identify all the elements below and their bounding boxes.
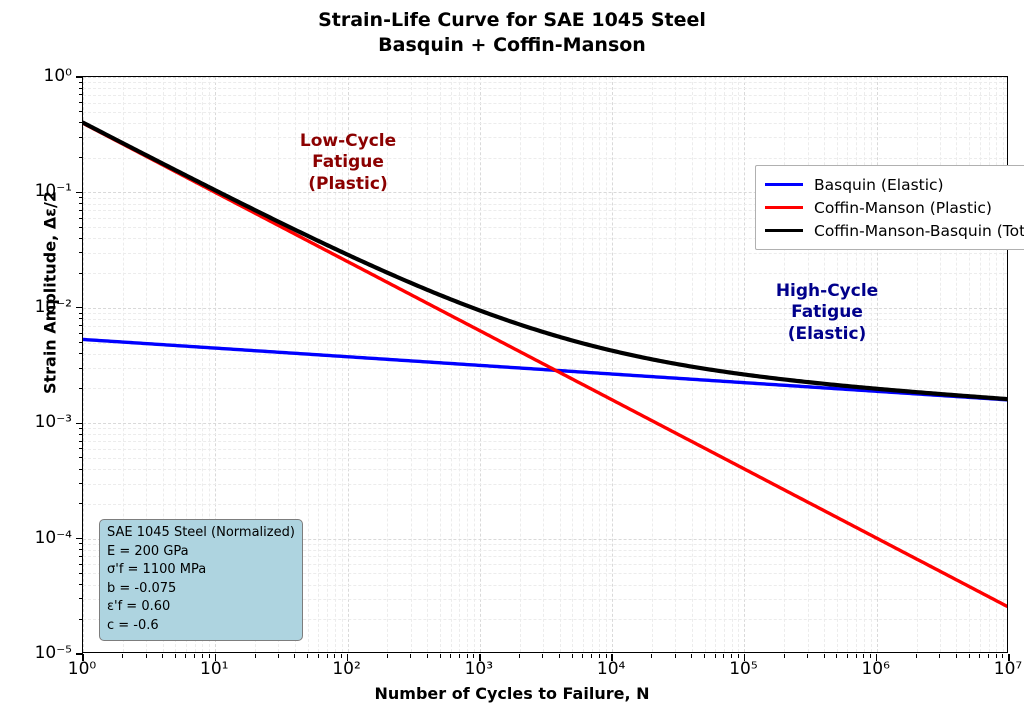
x-tick-label: 10⁵ bbox=[729, 659, 757, 679]
x-tick-minor bbox=[996, 654, 997, 658]
legend-label-total: Coffin-Manson-Basquin (Total) bbox=[814, 222, 1024, 240]
x-tick-minor bbox=[969, 654, 970, 658]
y-tick-minor bbox=[79, 252, 83, 253]
x-tick-label: 10⁷ bbox=[994, 659, 1022, 679]
x-tick-minor bbox=[519, 654, 520, 658]
legend-swatch-total bbox=[765, 229, 803, 232]
y-tick-label: 10⁰ bbox=[0, 66, 72, 86]
x-tick-minor bbox=[387, 654, 388, 658]
y-tick-label: 10⁻⁵ bbox=[0, 643, 72, 663]
param-b: b = -0.075 bbox=[107, 580, 295, 599]
x-tick-minor bbox=[185, 654, 186, 658]
legend-swatch-basquin bbox=[765, 183, 803, 186]
x-tick-minor bbox=[427, 654, 428, 658]
x-tick-minor bbox=[856, 654, 857, 658]
annotation-low-cycle-fatigue: Low-Cycle Fatigue (Plastic) bbox=[268, 131, 428, 195]
y-tick-major bbox=[76, 653, 83, 654]
x-tick-minor bbox=[870, 654, 871, 658]
y-tick-minor bbox=[79, 573, 83, 574]
annotation-hcf-line1: High-Cycle bbox=[737, 281, 917, 302]
y-tick-minor bbox=[79, 441, 83, 442]
x-tick-minor bbox=[473, 654, 474, 658]
x-tick-minor bbox=[450, 654, 451, 658]
legend-item-total[interactable]: Coffin-Manson-Basquin (Total) bbox=[765, 219, 1024, 242]
param-modulus: E = 200 GPa bbox=[107, 543, 295, 562]
x-tick-minor bbox=[824, 654, 825, 658]
material-parameters-box: SAE 1045 Steel (Normalized) E = 200 GPa … bbox=[99, 519, 303, 641]
x-tick-minor bbox=[410, 654, 411, 658]
y-tick-minor bbox=[79, 564, 83, 565]
x-tick-minor bbox=[318, 654, 319, 658]
x-tick-minor bbox=[916, 654, 917, 658]
x-tick-minor bbox=[847, 654, 848, 658]
x-tick-label: 10⁰ bbox=[68, 659, 96, 679]
x-tick-minor bbox=[278, 654, 279, 658]
legend-label-basquin: Basquin (Elastic) bbox=[814, 176, 944, 194]
legend: Basquin (Elastic) Coffin-Manson (Plastic… bbox=[755, 165, 1024, 250]
annotation-lcf-line1: Low-Cycle bbox=[268, 131, 428, 152]
param-material: SAE 1045 Steel (Normalized) bbox=[107, 524, 295, 543]
y-tick-major bbox=[76, 76, 83, 77]
y-tick-minor bbox=[79, 210, 83, 211]
y-tick-minor bbox=[79, 457, 83, 458]
x-tick-minor bbox=[559, 654, 560, 658]
y-tick-minor bbox=[79, 448, 83, 449]
param-c: c = -0.6 bbox=[107, 617, 295, 636]
curve-basquin-elastic bbox=[83, 339, 1007, 399]
y-tick-label: 10⁻⁴ bbox=[0, 528, 72, 548]
y-tick-minor bbox=[79, 368, 83, 369]
y-tick-minor bbox=[79, 598, 83, 599]
annotation-high-cycle-fatigue: High-Cycle Fatigue (Elastic) bbox=[737, 281, 917, 345]
x-tick-minor bbox=[738, 654, 739, 658]
y-tick-label: 10⁻³ bbox=[0, 412, 72, 432]
chart-title-line1: Strain-Life Curve for SAE 1045 Steel bbox=[318, 9, 706, 31]
x-tick-minor bbox=[459, 654, 460, 658]
y-tick-minor bbox=[79, 318, 83, 319]
y-tick-minor bbox=[79, 584, 83, 585]
y-tick-minor bbox=[79, 102, 83, 103]
x-tick-minor bbox=[209, 654, 210, 658]
y-tick-minor bbox=[79, 388, 83, 389]
x-tick-minor bbox=[956, 654, 957, 658]
y-tick-minor bbox=[79, 111, 83, 112]
y-tick-minor bbox=[79, 342, 83, 343]
annotation-hcf-line2: Fatigue bbox=[737, 302, 917, 323]
legend-swatch-coffin-manson bbox=[765, 206, 803, 209]
x-tick-minor bbox=[807, 654, 808, 658]
x-tick-minor bbox=[675, 654, 676, 658]
x-tick-minor bbox=[606, 654, 607, 658]
chart-title-line2: Basquin + Coffin-Manson bbox=[0, 33, 1024, 58]
y-tick-minor bbox=[79, 157, 83, 158]
y-tick-minor bbox=[79, 313, 83, 314]
y-tick-major bbox=[76, 307, 83, 308]
param-epsilon-f: ε'f = 0.60 bbox=[107, 598, 295, 617]
annotation-lcf-line2: Fatigue bbox=[268, 152, 428, 173]
y-tick-minor bbox=[79, 469, 83, 470]
x-tick-minor bbox=[723, 654, 724, 658]
legend-item-basquin[interactable]: Basquin (Elastic) bbox=[765, 173, 1024, 196]
x-tick-minor bbox=[1002, 654, 1003, 658]
x-tick-minor bbox=[988, 654, 989, 658]
y-tick-minor bbox=[79, 218, 83, 219]
annotation-hcf-line3: (Elastic) bbox=[737, 324, 917, 345]
x-tick-minor bbox=[979, 654, 980, 658]
y-tick-minor bbox=[79, 543, 83, 544]
x-tick-minor bbox=[162, 654, 163, 658]
y-tick-minor bbox=[79, 619, 83, 620]
legend-label-coffin-manson: Coffin-Manson (Plastic) bbox=[814, 199, 992, 217]
y-tick-minor bbox=[79, 137, 83, 138]
x-tick-minor bbox=[572, 654, 573, 658]
x-tick-minor bbox=[731, 654, 732, 658]
y-tick-minor bbox=[79, 503, 83, 504]
annotation-lcf-line3: (Plastic) bbox=[268, 174, 428, 195]
x-tick-minor bbox=[715, 654, 716, 658]
y-tick-minor bbox=[79, 325, 83, 326]
chart-title: Strain-Life Curve for SAE 1045 Steel Bas… bbox=[0, 8, 1024, 57]
x-tick-minor bbox=[175, 654, 176, 658]
x-tick-label: 10¹ bbox=[200, 659, 228, 679]
x-tick-minor bbox=[542, 654, 543, 658]
y-tick-major bbox=[76, 192, 83, 193]
y-tick-minor bbox=[79, 483, 83, 484]
y-tick-minor bbox=[79, 428, 83, 429]
y-tick-minor bbox=[79, 94, 83, 95]
y-tick-label: 10⁻² bbox=[0, 297, 72, 317]
x-tick-minor bbox=[691, 654, 692, 658]
x-tick-minor bbox=[939, 654, 940, 658]
y-tick-major bbox=[76, 538, 83, 539]
legend-item-coffin-manson[interactable]: Coffin-Manson (Plastic) bbox=[765, 196, 1024, 219]
y-tick-minor bbox=[79, 549, 83, 550]
x-tick-minor bbox=[341, 654, 342, 658]
y-tick-major bbox=[76, 423, 83, 424]
y-tick-minor bbox=[79, 333, 83, 334]
x-tick-minor bbox=[334, 654, 335, 658]
x-tick-minor bbox=[467, 654, 468, 658]
x-tick-minor bbox=[704, 654, 705, 658]
y-tick-minor bbox=[79, 434, 83, 435]
x-tick-minor bbox=[599, 654, 600, 658]
y-tick-minor bbox=[79, 122, 83, 123]
x-tick-minor bbox=[591, 654, 592, 658]
x-tick-label: 10⁶ bbox=[861, 659, 889, 679]
x-tick-minor bbox=[122, 654, 123, 658]
y-tick-minor bbox=[79, 82, 83, 83]
x-tick-minor bbox=[784, 654, 785, 658]
x-tick-label: 10⁴ bbox=[597, 659, 625, 679]
x-tick-minor bbox=[582, 654, 583, 658]
x-tick-minor bbox=[146, 654, 147, 658]
x-tick-label: 10³ bbox=[465, 659, 493, 679]
x-axis-title: Number of Cycles to Failure, N bbox=[0, 684, 1024, 703]
x-tick-minor bbox=[194, 654, 195, 658]
y-tick-minor bbox=[79, 88, 83, 89]
y-tick-minor bbox=[79, 238, 83, 239]
x-tick-minor bbox=[651, 654, 652, 658]
x-tick-minor bbox=[327, 654, 328, 658]
x-tick-minor bbox=[307, 654, 308, 658]
y-tick-minor bbox=[79, 227, 83, 228]
x-tick-minor bbox=[836, 654, 837, 658]
param-sigma-f: σ'f = 1100 MPa bbox=[107, 561, 295, 580]
x-tick-minor bbox=[202, 654, 203, 658]
y-tick-minor bbox=[79, 556, 83, 557]
y-tick-minor bbox=[79, 273, 83, 274]
y-tick-minor bbox=[79, 203, 83, 204]
x-tick-minor bbox=[294, 654, 295, 658]
x-tick-label: 10² bbox=[332, 659, 360, 679]
x-tick-minor bbox=[255, 654, 256, 658]
y-tick-minor bbox=[79, 197, 83, 198]
y-tick-minor bbox=[79, 353, 83, 354]
x-tick-minor bbox=[440, 654, 441, 658]
y-tick-label: 10⁻¹ bbox=[0, 181, 72, 201]
x-tick-minor bbox=[863, 654, 864, 658]
